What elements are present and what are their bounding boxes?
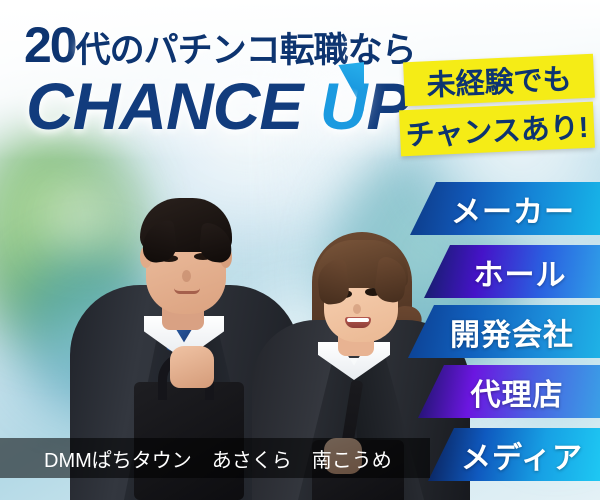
category-banner-hall[interactable]: ホール bbox=[424, 245, 600, 298]
category-label-media: メディア bbox=[461, 433, 583, 477]
category-banner-development[interactable]: 開発会社 bbox=[408, 305, 600, 358]
category-label-maker: メーカー bbox=[451, 187, 575, 231]
logo-letter-u: U bbox=[320, 68, 367, 144]
advertisement-banner[interactable]: 20代のパチンコ転職なら CHANCE UP 未経験でも チャンスあり! メーカ… bbox=[0, 0, 600, 500]
badge-no-experience: 未経験でも bbox=[403, 54, 595, 107]
category-banner-media[interactable]: メディア bbox=[428, 428, 600, 481]
category-label-development: 開発会社 bbox=[450, 310, 574, 354]
man-hand bbox=[170, 346, 214, 388]
category-label-hall: ホール bbox=[474, 250, 567, 294]
woman-nose bbox=[353, 304, 361, 314]
logo-word-chance: CHANCE bbox=[26, 69, 302, 143]
woman-teeth bbox=[347, 318, 369, 322]
chance-up-logo: CHANCE UP bbox=[26, 68, 409, 144]
category-label-agency: 代理店 bbox=[471, 370, 564, 414]
caption-bar: DMMぱちタウン あさくら 南こうめ bbox=[0, 438, 430, 478]
man-mouth bbox=[174, 288, 200, 294]
category-banner-maker[interactable]: メーカー bbox=[410, 182, 600, 235]
headline-number: 20 bbox=[24, 17, 76, 73]
headline-body: 代のパチンコ転職 bbox=[76, 31, 348, 70]
badge-chance-available: チャンスあり! bbox=[399, 102, 595, 157]
category-banner-agency[interactable]: 代理店 bbox=[418, 365, 600, 418]
man-nose bbox=[182, 270, 191, 282]
